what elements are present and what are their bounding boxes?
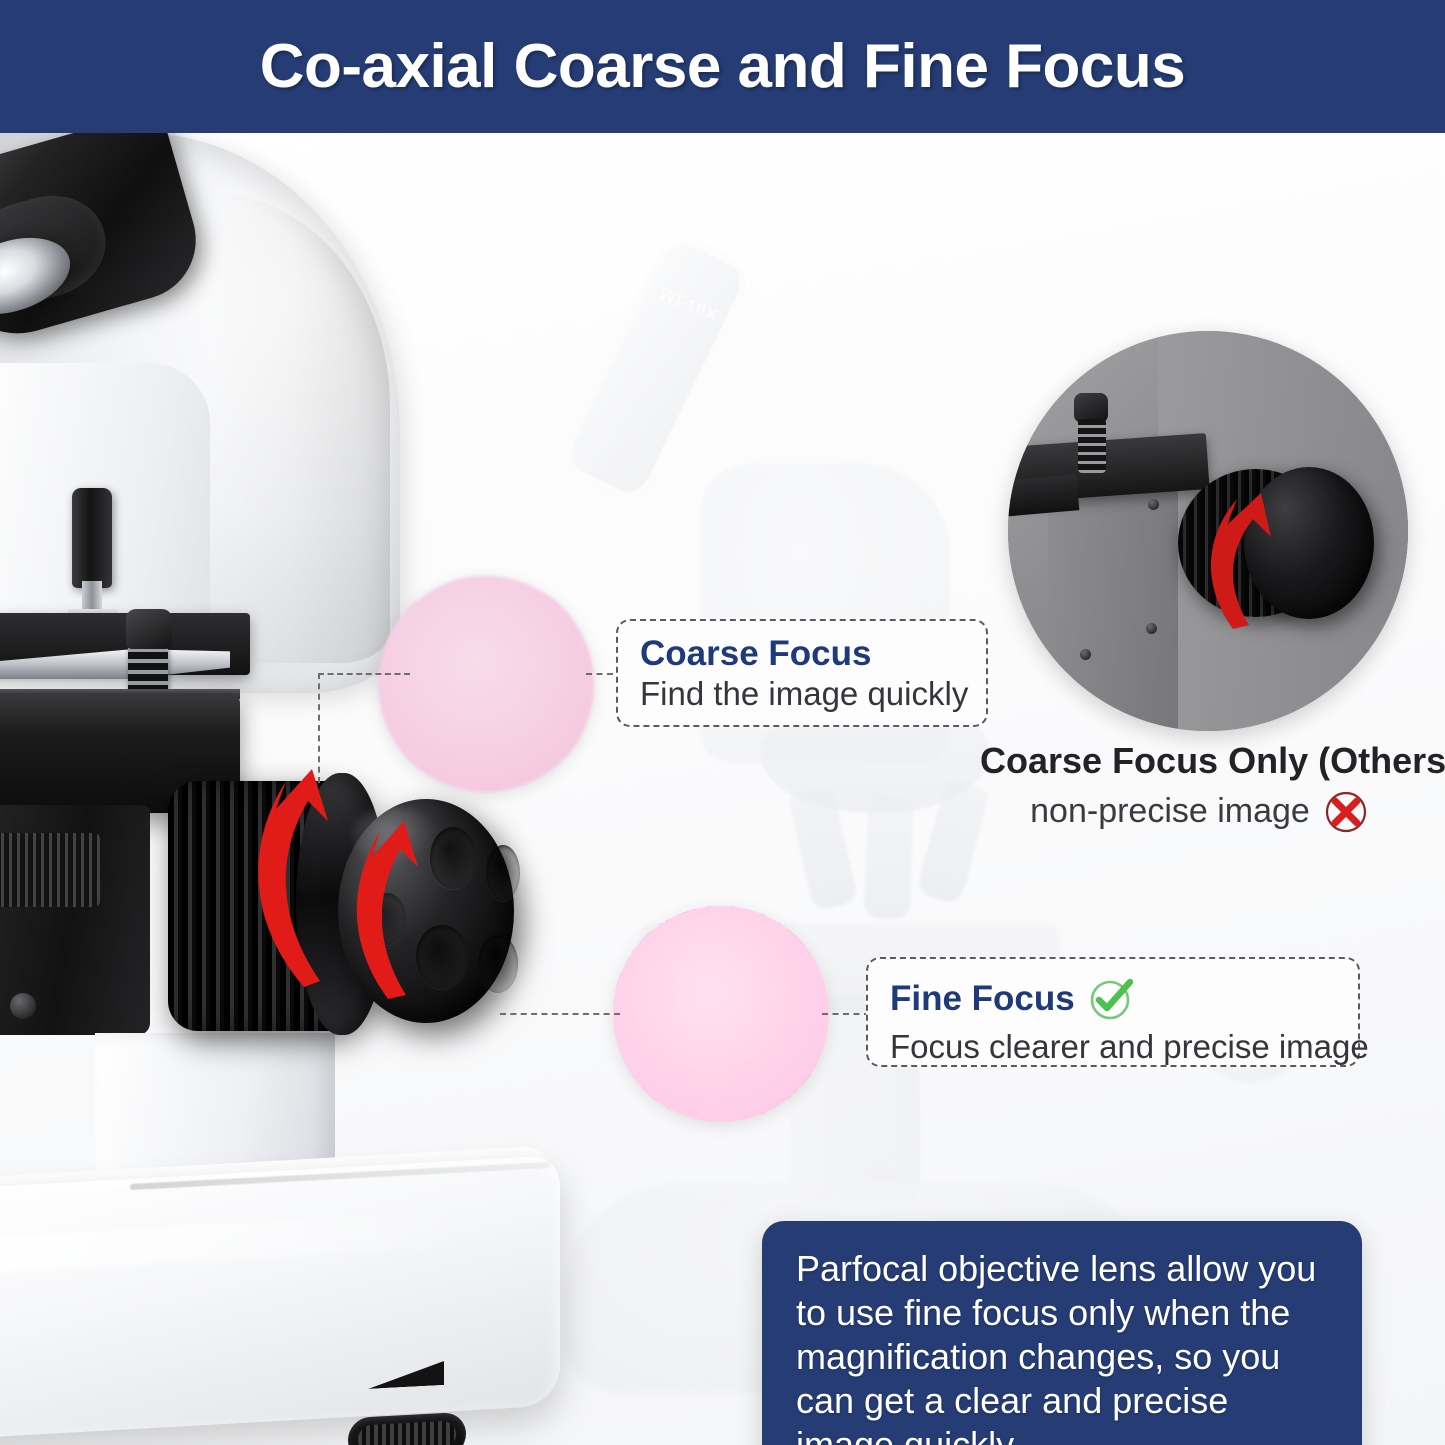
callout-fine-title-row: Fine Focus bbox=[890, 973, 1338, 1025]
fine-knob-dimple bbox=[478, 935, 518, 993]
callout-fine-focus: Fine Focus Focus clearer and precise ima… bbox=[866, 957, 1360, 1067]
leader-line-fine-to-callout bbox=[822, 1013, 870, 1015]
fine-rotation-arrow-icon bbox=[318, 805, 448, 1005]
fine-focus-specimen-image bbox=[613, 906, 829, 1122]
callout-coarse-title: Coarse Focus bbox=[640, 635, 871, 672]
tension-adjust-knob bbox=[72, 488, 112, 588]
check-circle-icon bbox=[1085, 973, 1137, 1025]
inset-screw bbox=[1148, 499, 1159, 510]
page-title: Co-axial Coarse and Fine Focus bbox=[260, 36, 1186, 98]
callout-coarse-title-row: Coarse Focus bbox=[640, 635, 966, 672]
fine-knob-dimple bbox=[486, 845, 520, 901]
inset-screw bbox=[1146, 623, 1157, 634]
microscope-base bbox=[0, 1155, 560, 1441]
specimen-background bbox=[613, 906, 829, 1122]
inset-stage-spring bbox=[1078, 419, 1106, 473]
callout-coarse-subtitle: Find the image quickly bbox=[640, 676, 966, 713]
cross-circle-icon bbox=[1322, 788, 1370, 836]
others-subtitle: non-precise image bbox=[1030, 793, 1310, 830]
eyepiece-label: WF10X bbox=[656, 284, 728, 330]
condenser-assembly bbox=[0, 833, 100, 907]
inset-side-panel bbox=[1048, 481, 1178, 731]
others-subtitle-row: non-precise image bbox=[980, 788, 1420, 836]
watermark-objective-lens bbox=[864, 792, 914, 920]
parfocal-note-text: Parfocal objective lens allow you to use… bbox=[796, 1247, 1332, 1445]
leader-line-coarse-horizontal bbox=[318, 673, 410, 675]
microscope-arm-shading bbox=[210, 193, 390, 663]
stage-spring-knob bbox=[126, 609, 172, 649]
condenser-knob bbox=[10, 993, 36, 1019]
specimen-background bbox=[378, 576, 594, 792]
callout-fine-subtitle: Focus clearer and precise image bbox=[890, 1029, 1338, 1066]
callout-coarse-focus: Coarse Focus Find the image quickly bbox=[616, 619, 988, 727]
leader-line-coarse-vertical bbox=[318, 673, 320, 783]
coarse-focus-specimen-image bbox=[378, 576, 594, 792]
inset-screw bbox=[1080, 649, 1091, 660]
parfocal-note-box: Parfocal objective lens allow you to use… bbox=[762, 1221, 1362, 1445]
infographic-canvas: Co-axial Coarse and Fine Focus WF10X bbox=[0, 0, 1445, 1445]
others-title: Coarse Focus Only (Others) bbox=[980, 741, 1420, 781]
product-photo-area: WF10X bbox=[0, 133, 1445, 1445]
leader-line-fine-horizontal bbox=[500, 1013, 620, 1015]
inset-rotation-arrow-icon bbox=[1185, 483, 1285, 633]
header-banner: Co-axial Coarse and Fine Focus bbox=[0, 0, 1445, 133]
callout-fine-title: Fine Focus bbox=[890, 980, 1075, 1017]
brightness-dial-ridges bbox=[358, 1420, 456, 1445]
others-comparison-block: Coarse Focus Only (Others) non-precise i… bbox=[980, 741, 1420, 836]
watermark-eyepiece: WF10X bbox=[564, 238, 747, 499]
